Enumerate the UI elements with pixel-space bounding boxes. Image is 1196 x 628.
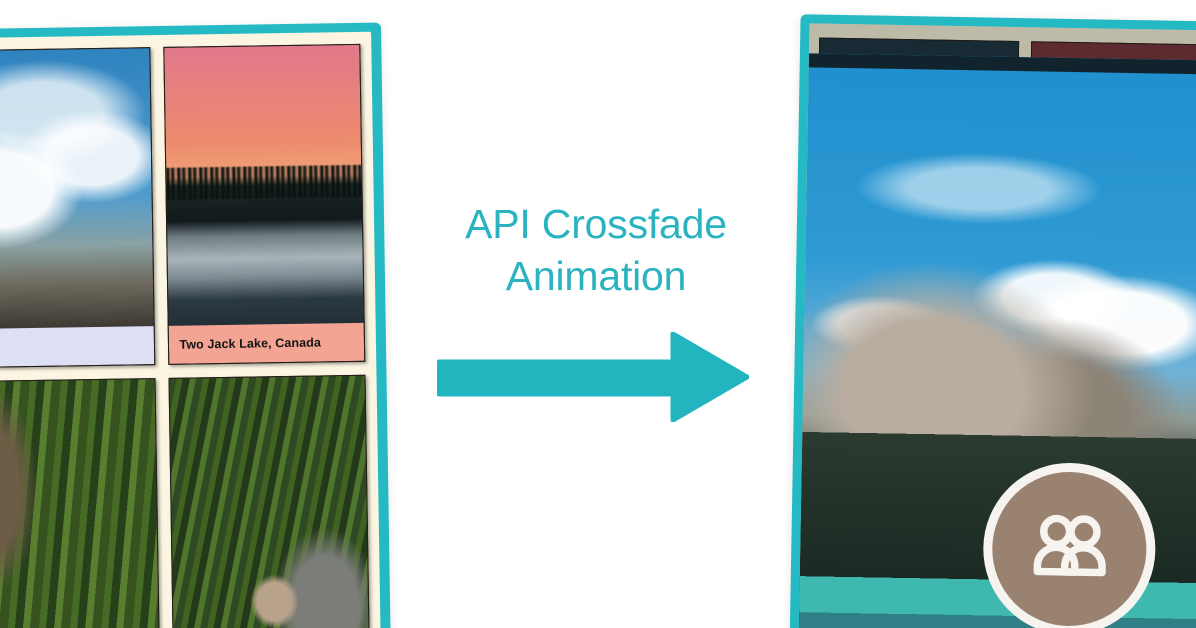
right-arrow-icon <box>437 332 749 422</box>
photo-caption: Two Jack Lake, Canada <box>168 323 364 364</box>
photo-thumbnail <box>0 379 159 628</box>
screenshot-canvas: Two Jack Lake, Canada API Crossfade Anim… <box>0 0 1196 628</box>
page-title: API Crossfade Animation <box>396 198 796 303</box>
grid-tile[interactable] <box>0 47 155 368</box>
title-line-1: API Crossfade <box>396 198 796 250</box>
photo-thumbnail <box>0 48 154 367</box>
center-annotation: API Crossfade Animation <box>396 0 796 628</box>
photo-thumbnail <box>169 376 369 628</box>
gallery-grid-screen[interactable]: Two Jack Lake, Canada <box>0 23 391 628</box>
photo-detail-screen[interactable] <box>789 14 1196 628</box>
title-line-2: Animation <box>396 250 796 302</box>
people-icon <box>1023 502 1117 596</box>
grid-tile[interactable] <box>168 375 370 628</box>
detail-screen-surface <box>798 23 1196 628</box>
grid-tile[interactable]: Two Jack Lake, Canada <box>163 44 365 365</box>
photo-grid: Two Jack Lake, Canada <box>0 44 370 628</box>
hero-photo[interactable] <box>798 53 1196 628</box>
people-badge[interactable] <box>982 461 1157 628</box>
photo-caption <box>0 326 154 367</box>
grid-tile[interactable] <box>0 378 160 628</box>
gallery-screen-surface: Two Jack Lake, Canada <box>0 32 381 628</box>
photo-thumbnail <box>164 45 364 364</box>
